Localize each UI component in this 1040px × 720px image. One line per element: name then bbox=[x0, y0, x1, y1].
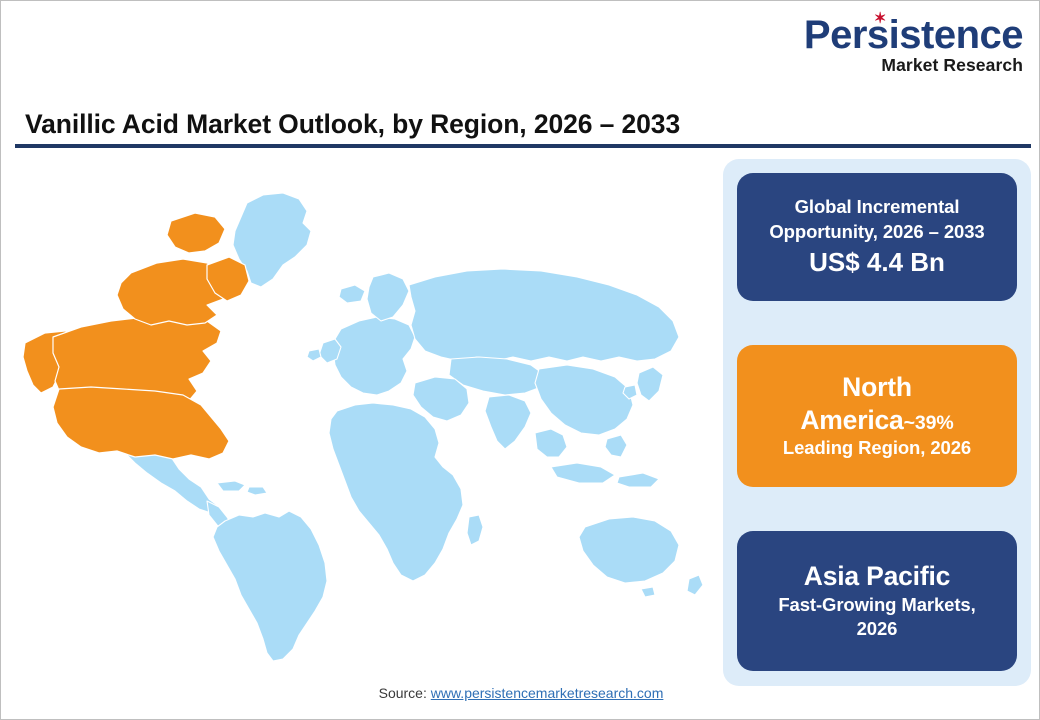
map-region-scandinavia bbox=[367, 273, 409, 321]
card-incremental-line2: Opportunity, 2026 – 2033 bbox=[769, 220, 984, 245]
map-region-indonesia bbox=[551, 463, 615, 483]
stat-card-leading-region[interactable]: North America~39% Leading Region, 2026 bbox=[737, 345, 1017, 487]
logo-wordmark-label: Persistence bbox=[804, 13, 1023, 57]
card-leading-line2: America~39% bbox=[800, 404, 953, 436]
card-incremental-value: US$ 4.4 Bn bbox=[809, 246, 945, 279]
map-region-caribbean bbox=[217, 481, 245, 491]
infographic-canvas: Persistence ✶ Market Research Vanillic A… bbox=[0, 0, 1040, 720]
stat-card-global-incremental-opportunity[interactable]: Global Incremental Opportunity, 2026 – 2… bbox=[737, 173, 1017, 301]
map-highlight-north-america[interactable] bbox=[23, 213, 249, 459]
source-label: Source: bbox=[379, 685, 427, 701]
card-fast-region-name: Asia Pacific bbox=[804, 560, 950, 592]
map-region-south-america bbox=[213, 511, 327, 661]
source-note: Source: www.persistencemarketresearch.co… bbox=[1, 685, 1040, 701]
map-region-japan bbox=[637, 367, 663, 401]
logo-subline-label: Market Research bbox=[804, 57, 1023, 75]
map-region-ireland bbox=[307, 349, 321, 361]
map-region-madagascar bbox=[467, 515, 483, 545]
map-region-east-asia bbox=[535, 365, 633, 435]
source-link[interactable]: www.persistencemarketresearch.com bbox=[431, 685, 664, 701]
stat-card-fast-growing-market[interactable]: Asia Pacific Fast-Growing Markets, 2026 bbox=[737, 531, 1017, 671]
card-fast-caption-line1: Fast-Growing Markets, bbox=[778, 593, 975, 618]
map-region-arctic-islands bbox=[167, 213, 225, 253]
map-region-hispaniola bbox=[247, 487, 267, 495]
brand-logo: Persistence ✶ Market Research bbox=[804, 15, 1023, 75]
card-leading-line1: North bbox=[842, 371, 912, 403]
map-region-philippines bbox=[605, 435, 627, 457]
map-region-europe bbox=[333, 317, 415, 395]
stats-panel: Global Incremental Opportunity, 2026 – 2… bbox=[723, 159, 1031, 686]
title-divider bbox=[15, 144, 1031, 148]
card-leading-share-value: ~39% bbox=[904, 412, 954, 434]
map-region-russia bbox=[409, 269, 679, 361]
map-region-africa bbox=[329, 403, 463, 581]
logo-wordmark-text: Persistence ✶ bbox=[804, 15, 1023, 55]
star-icon: ✶ bbox=[874, 13, 885, 24]
card-fast-caption-line2: 2026 bbox=[857, 617, 898, 642]
card-leading-region-name: America bbox=[800, 405, 903, 435]
map-region-new-guinea bbox=[617, 473, 659, 487]
map-region-tasmania bbox=[641, 587, 655, 597]
card-leading-caption: Leading Region, 2026 bbox=[783, 436, 971, 461]
map-region-india bbox=[485, 395, 531, 449]
map-region-new-zealand bbox=[687, 575, 703, 595]
card-incremental-line1: Global Incremental bbox=[795, 195, 960, 220]
map-region-iceland bbox=[339, 285, 365, 303]
world-map bbox=[11, 161, 717, 671]
map-region-southeast-asia bbox=[535, 429, 567, 457]
map-region-australia bbox=[579, 517, 679, 583]
map-region-usa bbox=[53, 387, 229, 459]
page-title: Vanillic Acid Market Outlook, by Region,… bbox=[25, 109, 680, 140]
